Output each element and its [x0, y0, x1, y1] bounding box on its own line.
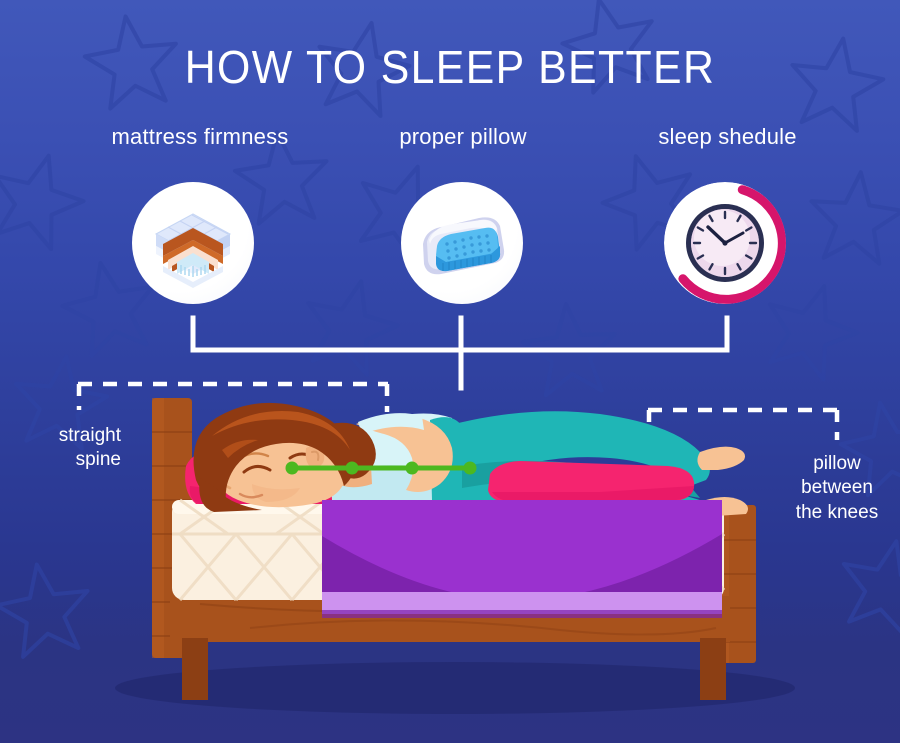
- infographic-poster: HOW TO SLEEP BETTER mattress firmness pr…: [0, 0, 900, 743]
- sleeping-scene: [0, 0, 900, 743]
- knee-pillow: [488, 461, 694, 503]
- blanket: [322, 500, 722, 618]
